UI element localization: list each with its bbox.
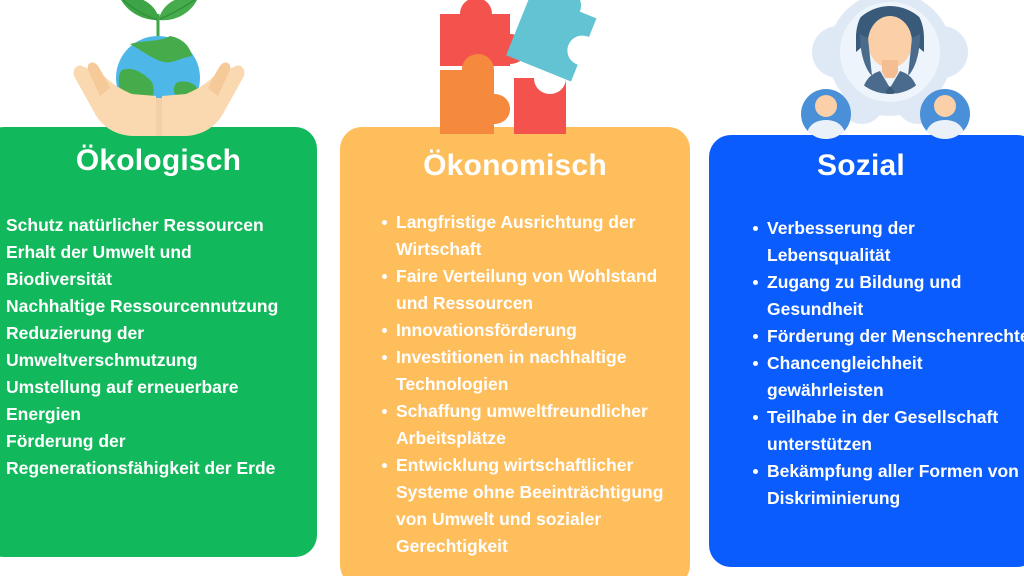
hands-holding-globe-with-sprout-icon — [60, 0, 260, 136]
card-social: Sozial Verbesserung der Lebensqualität Z… — [709, 135, 1024, 567]
list-item: Langfristige Ausrichtung der Wirtschaft — [380, 209, 668, 263]
list-item: Reduzierung der Umweltverschmutzung — [0, 320, 299, 374]
card-title-economic: Ökonomisch — [340, 149, 690, 183]
people-avatars-network-icon — [790, 0, 990, 140]
list-item: Nachhaltige Ressourcennutzung — [0, 293, 299, 320]
list-item: Verbesserung der Lebensqualität — [751, 215, 1024, 269]
list-item: Umstellung auf erneuerbare Energien — [0, 374, 299, 428]
list-item: Schutz natürlicher Ressourcen — [0, 212, 299, 239]
list-item: Förderung der Regenerationsfähigkeit der… — [0, 428, 299, 482]
list-item: Förderung der Menschenrechte — [751, 323, 1024, 350]
list-item: Chancengleichheit gewährleisten — [751, 350, 1024, 404]
card-ecological: Ökologisch Schutz natürlicher Ressourcen… — [0, 127, 317, 557]
infographic-canvas: Ökologisch Schutz natürlicher Ressourcen… — [0, 0, 1024, 576]
list-item: Schaffung umweltfreundlicher Arbeitsplät… — [380, 398, 668, 452]
bullet-list-ecological: Schutz natürlicher Ressourcen Erhalt der… — [0, 212, 317, 482]
list-item: Innovationsförderung — [380, 317, 668, 344]
list-item: Entwicklung wirtschaftlicher Systeme ohn… — [380, 452, 668, 560]
list-item: Erhalt der Umwelt und Biodiversität — [0, 239, 299, 293]
list-item: Investitionen in nachhaltige Technologie… — [380, 344, 668, 398]
jigsaw-puzzle-pieces-icon — [420, 0, 620, 134]
list-item: Zugang zu Bildung und Gesundheit — [751, 269, 1024, 323]
list-item: Teilhabe in der Gesellschaft unterstütze… — [751, 404, 1024, 458]
bullet-list-economic: Langfristige Ausrichtung der Wirtschaft … — [340, 209, 690, 560]
card-title-ecological: Ökologisch — [0, 144, 317, 178]
list-item: Faire Verteilung von Wohlstand und Resso… — [380, 263, 668, 317]
list-item: Bekämpfung aller Formen von Diskriminier… — [751, 458, 1024, 512]
bullet-list-social: Verbesserung der Lebensqualität Zugang z… — [709, 215, 1024, 512]
card-title-social: Sozial — [709, 149, 1024, 183]
card-economic: Ökonomisch Langfristige Ausrichtung der … — [340, 127, 690, 576]
